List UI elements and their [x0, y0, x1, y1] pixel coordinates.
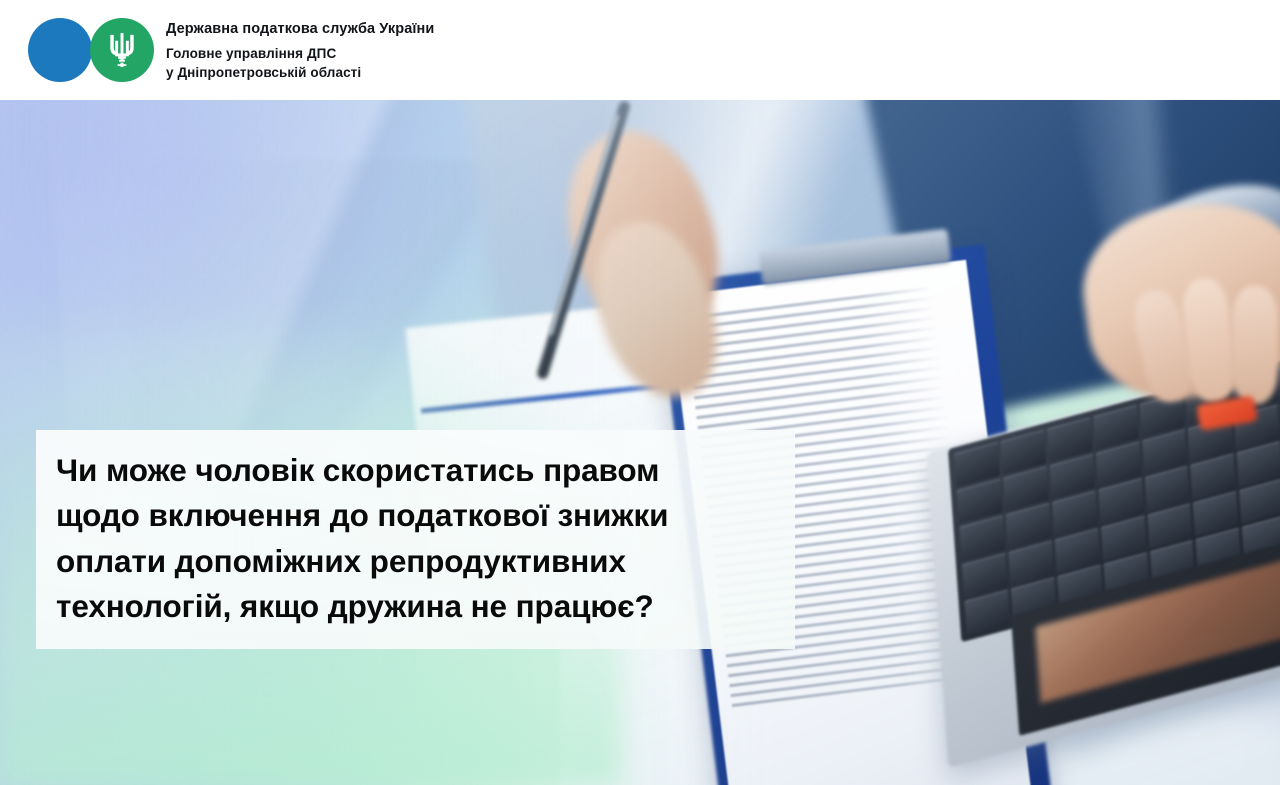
- page-title: Чи може чоловік скористатись правом щодо…: [56, 448, 775, 629]
- ukraine-trident-icon: [90, 18, 154, 82]
- agency-title-block: Державна податкова служба України Головн…: [166, 18, 434, 82]
- logo-blue-circle-icon: [28, 18, 92, 82]
- news-banner-page: Державна податкова служба України Головн…: [0, 0, 1280, 785]
- headline-card: Чи може чоловік скористатись правом щодо…: [36, 430, 795, 649]
- site-header: Державна податкова служба України Головн…: [0, 0, 1280, 100]
- agency-department: Головне управління ДПС у Дніпропетровськ…: [166, 45, 434, 81]
- hero-banner: Чи може чоловік скористатись правом щодо…: [0, 100, 1280, 785]
- agency-logo[interactable]: [28, 18, 156, 82]
- agency-name: Державна податкова служба України: [166, 20, 434, 38]
